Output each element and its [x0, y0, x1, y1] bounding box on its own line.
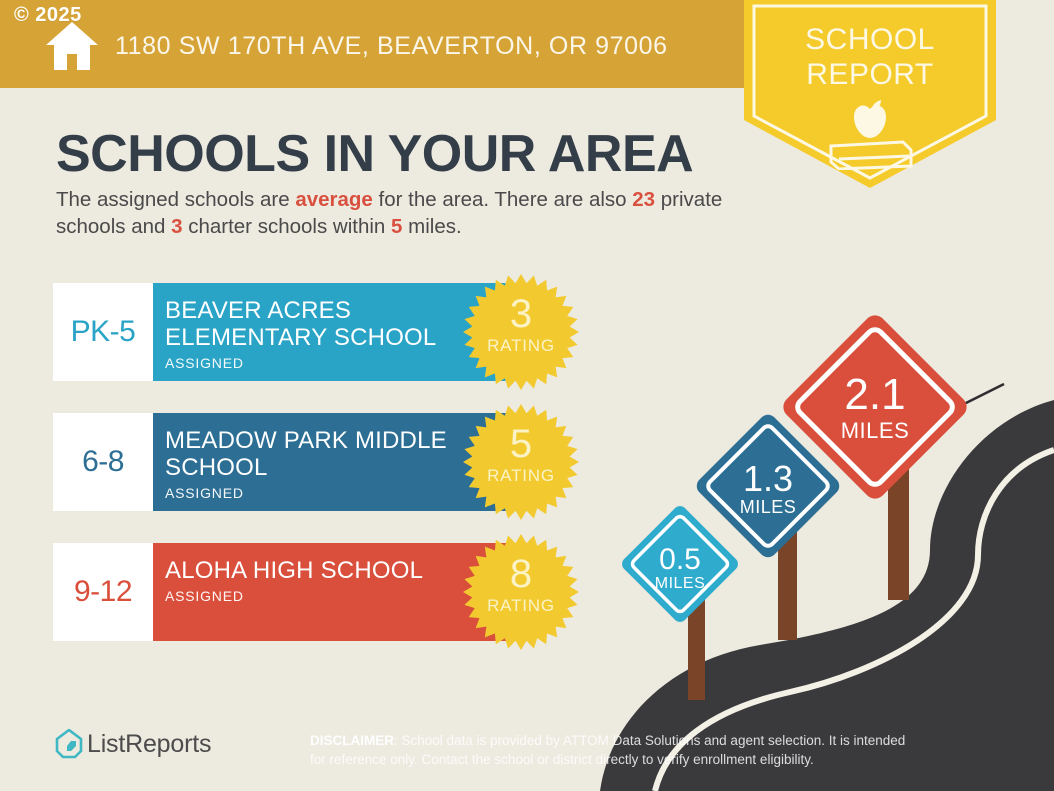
apple-icon — [848, 100, 892, 140]
listreports-house-pin-icon — [55, 729, 83, 759]
grade-chip: PK-5 — [53, 283, 153, 381]
grade-chip: 9-12 — [53, 543, 153, 641]
rating-label: RATING — [463, 466, 579, 486]
grade-range-label: 9-12 — [74, 575, 132, 609]
rating-badge[interactable]: 5 RATING — [463, 404, 579, 520]
disclaimer-body: : School data is provided by ATTOM Data … — [310, 733, 905, 767]
grade-chip: 6-8 — [53, 413, 153, 511]
distance-sign-3[interactable]: 2.1 MILES — [780, 312, 970, 502]
sign-unit-1: MILES — [621, 575, 739, 593]
rating-value: 3 — [463, 294, 579, 334]
badge-title: SCHOOL REPORT — [744, 22, 996, 92]
rating-label: RATING — [463, 336, 579, 356]
disclaimer-text: DISCLAIMER: School data is provided by A… — [310, 731, 910, 769]
disclaimer-label: DISCLAIMER — [310, 733, 394, 748]
infographic-canvas: 0.5 MILES 1.3 MILES 2.1 MILES © 2025 118… — [0, 0, 1054, 791]
page-title: SCHOOLS IN YOUR AREA — [56, 124, 693, 184]
rating-label: RATING — [463, 596, 579, 616]
logo-wordmark: ListReports — [87, 730, 211, 759]
rating-badge[interactable]: 8 RATING — [463, 534, 579, 650]
rating-value: 5 — [463, 424, 579, 464]
property-address: 1180 SW 170TH AVE, BEAVERTON, OR 97006 — [115, 32, 668, 61]
listreports-logo[interactable]: ListReports — [55, 729, 235, 765]
grade-range-label: 6-8 — [82, 445, 124, 479]
book-icon — [829, 140, 913, 170]
badge-title-line1: SCHOOL — [744, 22, 996, 57]
sign-unit-3: MILES — [780, 418, 970, 444]
grade-range-label: PK-5 — [71, 315, 136, 349]
rating-value: 8 — [463, 554, 579, 594]
school-report-badge: SCHOOL REPORT — [744, 0, 996, 188]
copyright-label: © 2025 — [14, 4, 82, 27]
rating-badge[interactable]: 3 RATING — [463, 274, 579, 390]
sign-value-3: 2.1 — [780, 370, 970, 420]
subtitle-text: The assigned schools are average for the… — [56, 186, 756, 240]
road-illustration: 0.5 MILES 1.3 MILES 2.1 MILES — [600, 300, 1054, 791]
badge-title-line2: REPORT — [744, 57, 996, 92]
